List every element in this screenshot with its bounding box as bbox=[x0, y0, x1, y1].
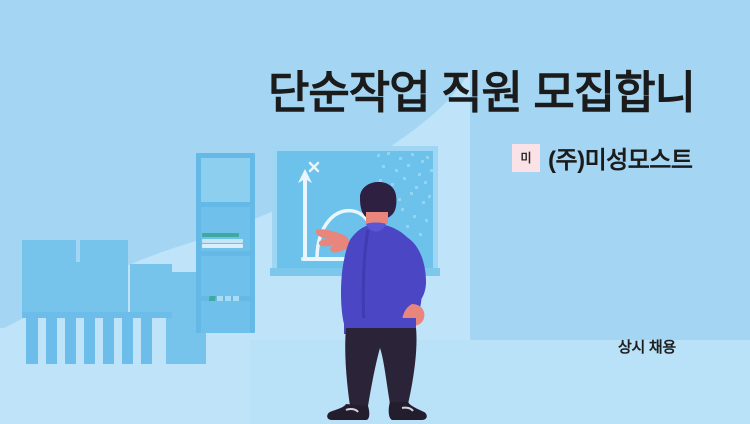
status-badge: 상시 채용 bbox=[618, 336, 676, 357]
company-name[interactable]: (주)미성모스트 bbox=[548, 140, 692, 175]
company-logo-badge: 미 bbox=[512, 144, 540, 172]
shoe-left bbox=[327, 404, 369, 420]
company-identity[interactable]: 미 (주)미성모스트 bbox=[512, 140, 692, 175]
shoe-right bbox=[389, 402, 427, 420]
recruitment-banner: 단순작업 직원 모집합니 미 (주)미성모스트 상시 채용 bbox=[0, 0, 750, 424]
raised-hand bbox=[316, 229, 352, 252]
presenter-figure-illustration bbox=[316, 168, 446, 424]
page-title: 단순작업 직원 모집합니 bbox=[268, 68, 708, 118]
trousers bbox=[345, 328, 416, 406]
stacked-crates-illustration bbox=[0, 236, 205, 366]
bookshelf-illustration bbox=[196, 153, 255, 333]
